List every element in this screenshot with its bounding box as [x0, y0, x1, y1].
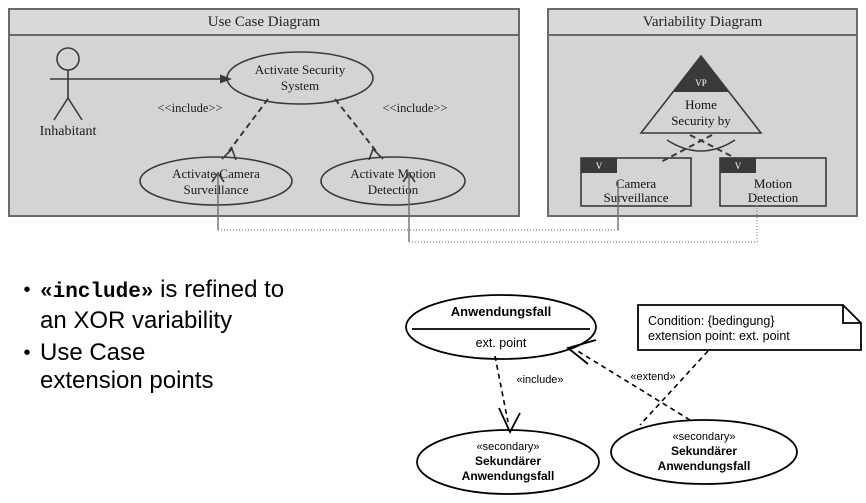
use-case-secondary-left: «secondary» Sekundärer Anwendungsfall [417, 430, 599, 494]
use-case-diagram-title: Use Case Diagram [10, 10, 518, 36]
note-condition: Condition: {bedingung} extension point: … [638, 305, 861, 350]
include-edge [495, 356, 520, 432]
include-edge-camera [222, 99, 268, 160]
secondary-stereotype: «secondary» [673, 431, 736, 443]
bullet-marker: • [14, 276, 40, 304]
use-case-label-line1: Activate Security [255, 62, 346, 77]
include-label-camera: <<include>> [158, 101, 223, 115]
secondary-stereotype: «secondary» [477, 441, 540, 453]
vp-label-line1: Home [685, 97, 717, 112]
list-item: • Use Case extension points [14, 339, 414, 395]
association-actor-to-security [86, 75, 232, 84]
variation-point-home-security: VP Home Security by [641, 56, 761, 133]
actor-inhabitant-icon [50, 48, 86, 120]
use-case-extension-point: ext. point [476, 336, 527, 350]
vp-tag-label: VP [695, 78, 707, 88]
actor-label: Inhabitant [18, 124, 118, 140]
vp-label-line2: Security by [671, 113, 731, 128]
extension-point-diagram: Anwendungsfall ext. point Condition: {be… [400, 280, 866, 503]
secondary-label-line1: Sekundärer [671, 444, 737, 458]
list-item: • «include» is refined to an XOR variabi… [14, 276, 414, 335]
include-edge-motion [335, 99, 383, 160]
extend-edge-label: «extend» [630, 371, 675, 383]
use-case-name: Anwendungsfall [451, 304, 551, 319]
bullet-list: • «include» is refined to an XOR variabi… [14, 276, 414, 399]
trace-arrow-camera [212, 173, 224, 230]
trace-arrow-motion [403, 173, 415, 242]
note-anchor-line [640, 351, 708, 425]
secondary-label-line1: Sekundärer [475, 454, 541, 468]
use-case-activate-security-system: Activate Security System [227, 52, 373, 104]
bullet-rest-text: is refined to [153, 276, 284, 303]
variability-diagram-title: Variability Diagram [549, 10, 856, 36]
use-case-secondary-right: «secondary» Sekundärer Anwendungsfall [611, 420, 797, 484]
bullet-body: «include» is refined to an XOR variabili… [40, 276, 284, 335]
include-label-motion: <<include>> [383, 101, 448, 115]
use-case-anwendungsfall: Anwendungsfall ext. point [406, 295, 596, 359]
trace-links-canvas [0, 160, 866, 260]
note-line2: extension point: ext. point [648, 329, 790, 343]
include-edge-label: «include» [516, 374, 563, 386]
bullet-body: Use Case extension points [40, 339, 213, 395]
secondary-label-line2: Anwendungsfall [658, 459, 751, 473]
secondary-label-line2: Anwendungsfall [462, 469, 555, 483]
use-case-label-line2: System [281, 78, 319, 93]
bullet-mono-term: «include» [40, 281, 153, 304]
bullet-line2: extension points [40, 367, 213, 394]
bullet-marker: • [14, 339, 40, 367]
bullet-rest-text: Use Case [40, 339, 145, 366]
note-line1: Condition: {bedingung} [648, 314, 775, 328]
bullet-line2: an XOR variability [40, 307, 232, 334]
